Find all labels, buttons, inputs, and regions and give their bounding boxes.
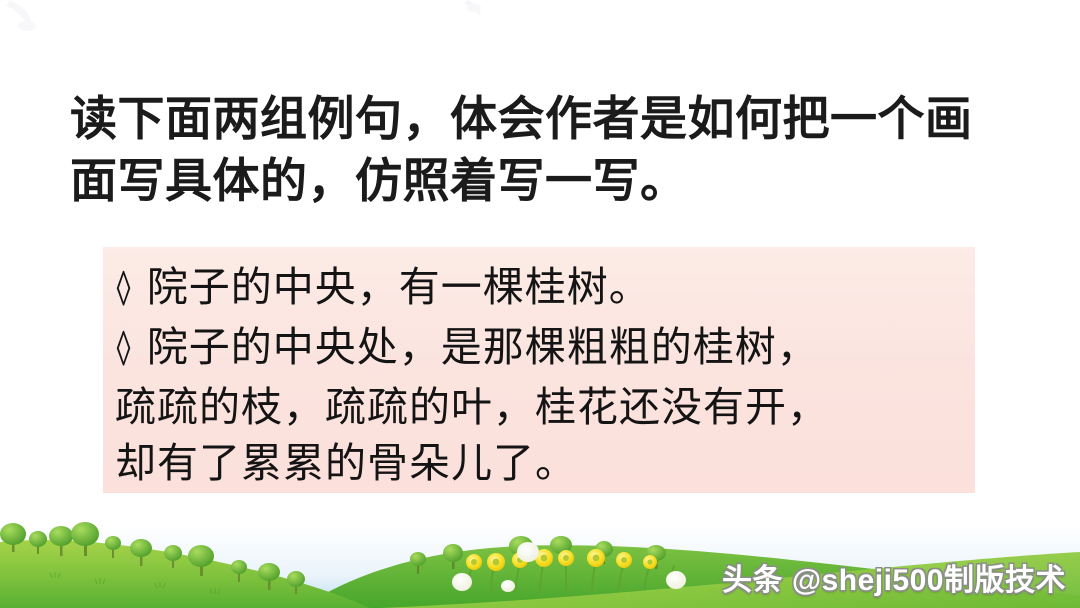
example-line: 却有了累累的骨朵儿了。 [115,435,975,491]
flower-cluster [452,542,686,592]
page-title: 读下面两组例句，体会作者是如何把一个画 面写具体的，仿照着写一写。 [70,88,1010,212]
example-line-text: 院子的中央，有一棵桂树。 [147,264,651,310]
diamond-bullet-icon: ◊ [117,310,132,391]
title-line-1: 读下面两组例句，体会作者是如何把一个画 [70,88,1010,150]
title-line-2: 面写具体的，仿照着写一写。 [70,150,1010,212]
example-line: 疏疏的枝，疏疏的叶，桂花还没有开， [115,379,975,435]
tree-group-middle [410,536,666,574]
example-line: ◊院子的中央处，是那棵粗粗的桂树， [115,319,975,379]
example-line-text: 院子的中央处，是那棵粗粗的桂树， [147,324,819,370]
example-sentences-box: ◊院子的中央，有一棵桂树。 ◊院子的中央处，是那棵粗粗的桂树， 疏疏的枝，疏疏的… [103,247,975,493]
tree-group-left [0,522,305,594]
example-line-text: 却有了累累的骨朵儿了。 [115,440,577,486]
watermark: 头条 @sheji500制版技术 [722,564,1066,598]
slide-canvas: 读下面两组例句，体会作者是如何把一个画 面写具体的，仿照着写一写。 ◊院子的中央… [0,0,1080,608]
example-line: ◊院子的中央，有一棵桂树。 [115,259,975,319]
faint-top-band [0,0,1080,34]
example-line-text: 疏疏的枝，疏疏的叶，桂花还没有开， [115,384,829,430]
